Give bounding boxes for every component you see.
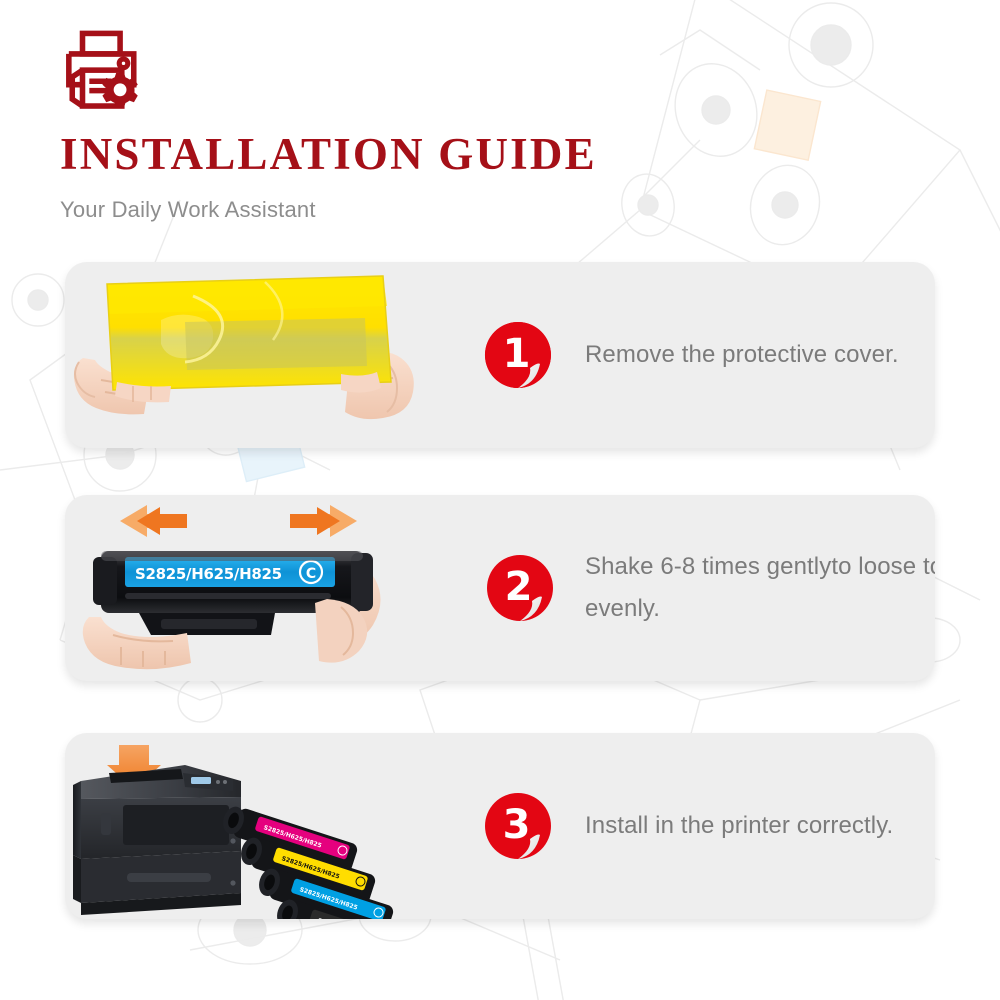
cartridge-label-text: S2825/H625/H825	[135, 565, 282, 583]
step-number-3: 3	[483, 791, 553, 861]
step-3-illustration: S2825/H625/H825 S2825/H625/H825 S2825/H6…	[65, 733, 465, 919]
step-1-illustration	[65, 262, 465, 448]
yellow-protective-bag	[107, 276, 391, 390]
step-text-3: Install in the printer correctly.	[585, 805, 935, 847]
step-badge-3: 3	[483, 791, 553, 861]
printer-gear-icon	[60, 30, 146, 112]
step-card-1: 1 Remove the protective cover.	[65, 262, 935, 448]
step-text-2: Shake 6-8 times gentlyto loose toner eve…	[585, 546, 935, 630]
step-number-2: 2	[485, 553, 555, 623]
step-card-3: S2825/H625/H825 S2825/H625/H825 S2825/H6…	[65, 733, 935, 919]
svg-text:C: C	[306, 566, 316, 582]
page-title: INSTALLATION GUIDE	[60, 132, 597, 177]
cartridge-stack: S2825/H625/H825 S2825/H625/H825 S2825/H6…	[219, 803, 413, 919]
step-badge-1: 1	[483, 320, 553, 390]
step-2-illustration: S2825/H625/H825 C	[65, 495, 475, 681]
printer	[73, 765, 241, 915]
guide-header: INSTALLATION GUIDE Your Daily Work Assis…	[60, 30, 597, 223]
step-number-1: 1	[483, 320, 553, 390]
step-text-1: Remove the protective cover.	[585, 334, 935, 376]
step-card-2: S2825/H625/H825 C	[65, 495, 935, 681]
step-badge-2: 2	[485, 553, 555, 623]
page-subtitle: Your Daily Work Assistant	[60, 197, 597, 223]
shake-arrow-left	[120, 505, 187, 537]
shake-arrow-right	[290, 505, 357, 537]
